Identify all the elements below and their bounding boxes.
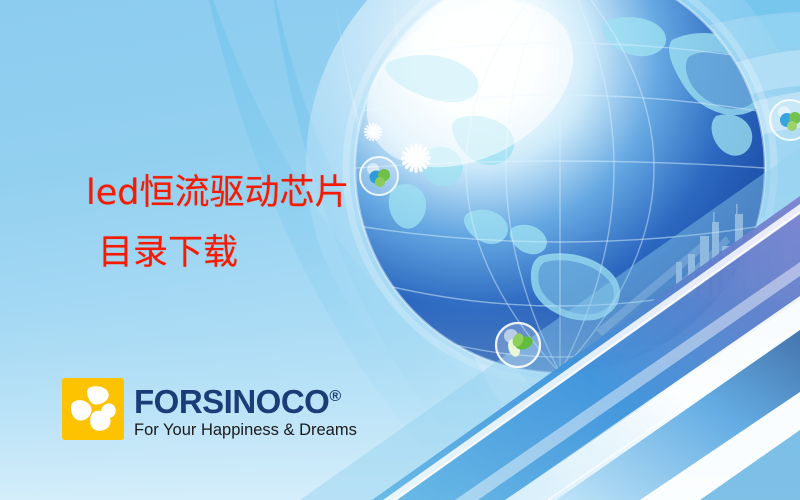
- sparkle-icon: [369, 131, 374, 136]
- company-logo: FORSINOCO® For Your Happiness & Dreams: [62, 378, 357, 440]
- logo-wordmark-text: FORSINOCO: [134, 383, 329, 420]
- promo-banner: led恒流驱动芯片 目录下载 FORSINOCO® For Your Happ: [0, 0, 800, 500]
- logo-tagline: For Your Happiness & Dreams: [134, 420, 357, 440]
- logo-wordmark: FORSINOCO®: [134, 380, 357, 419]
- four-petal-flower-icon: [62, 378, 124, 440]
- bubble-leaf-icon: [496, 323, 540, 367]
- headline-line-1: led恒流驱动芯片: [86, 163, 506, 223]
- headline-block: led恒流驱动芯片 目录下载: [86, 163, 506, 283]
- registered-trademark-icon: ®: [329, 388, 341, 405]
- bubble-globe-icon: [770, 100, 800, 140]
- logo-text-block: FORSINOCO® For Your Happiness & Dreams: [134, 378, 357, 440]
- headline-line-2: 目录下载: [86, 223, 506, 283]
